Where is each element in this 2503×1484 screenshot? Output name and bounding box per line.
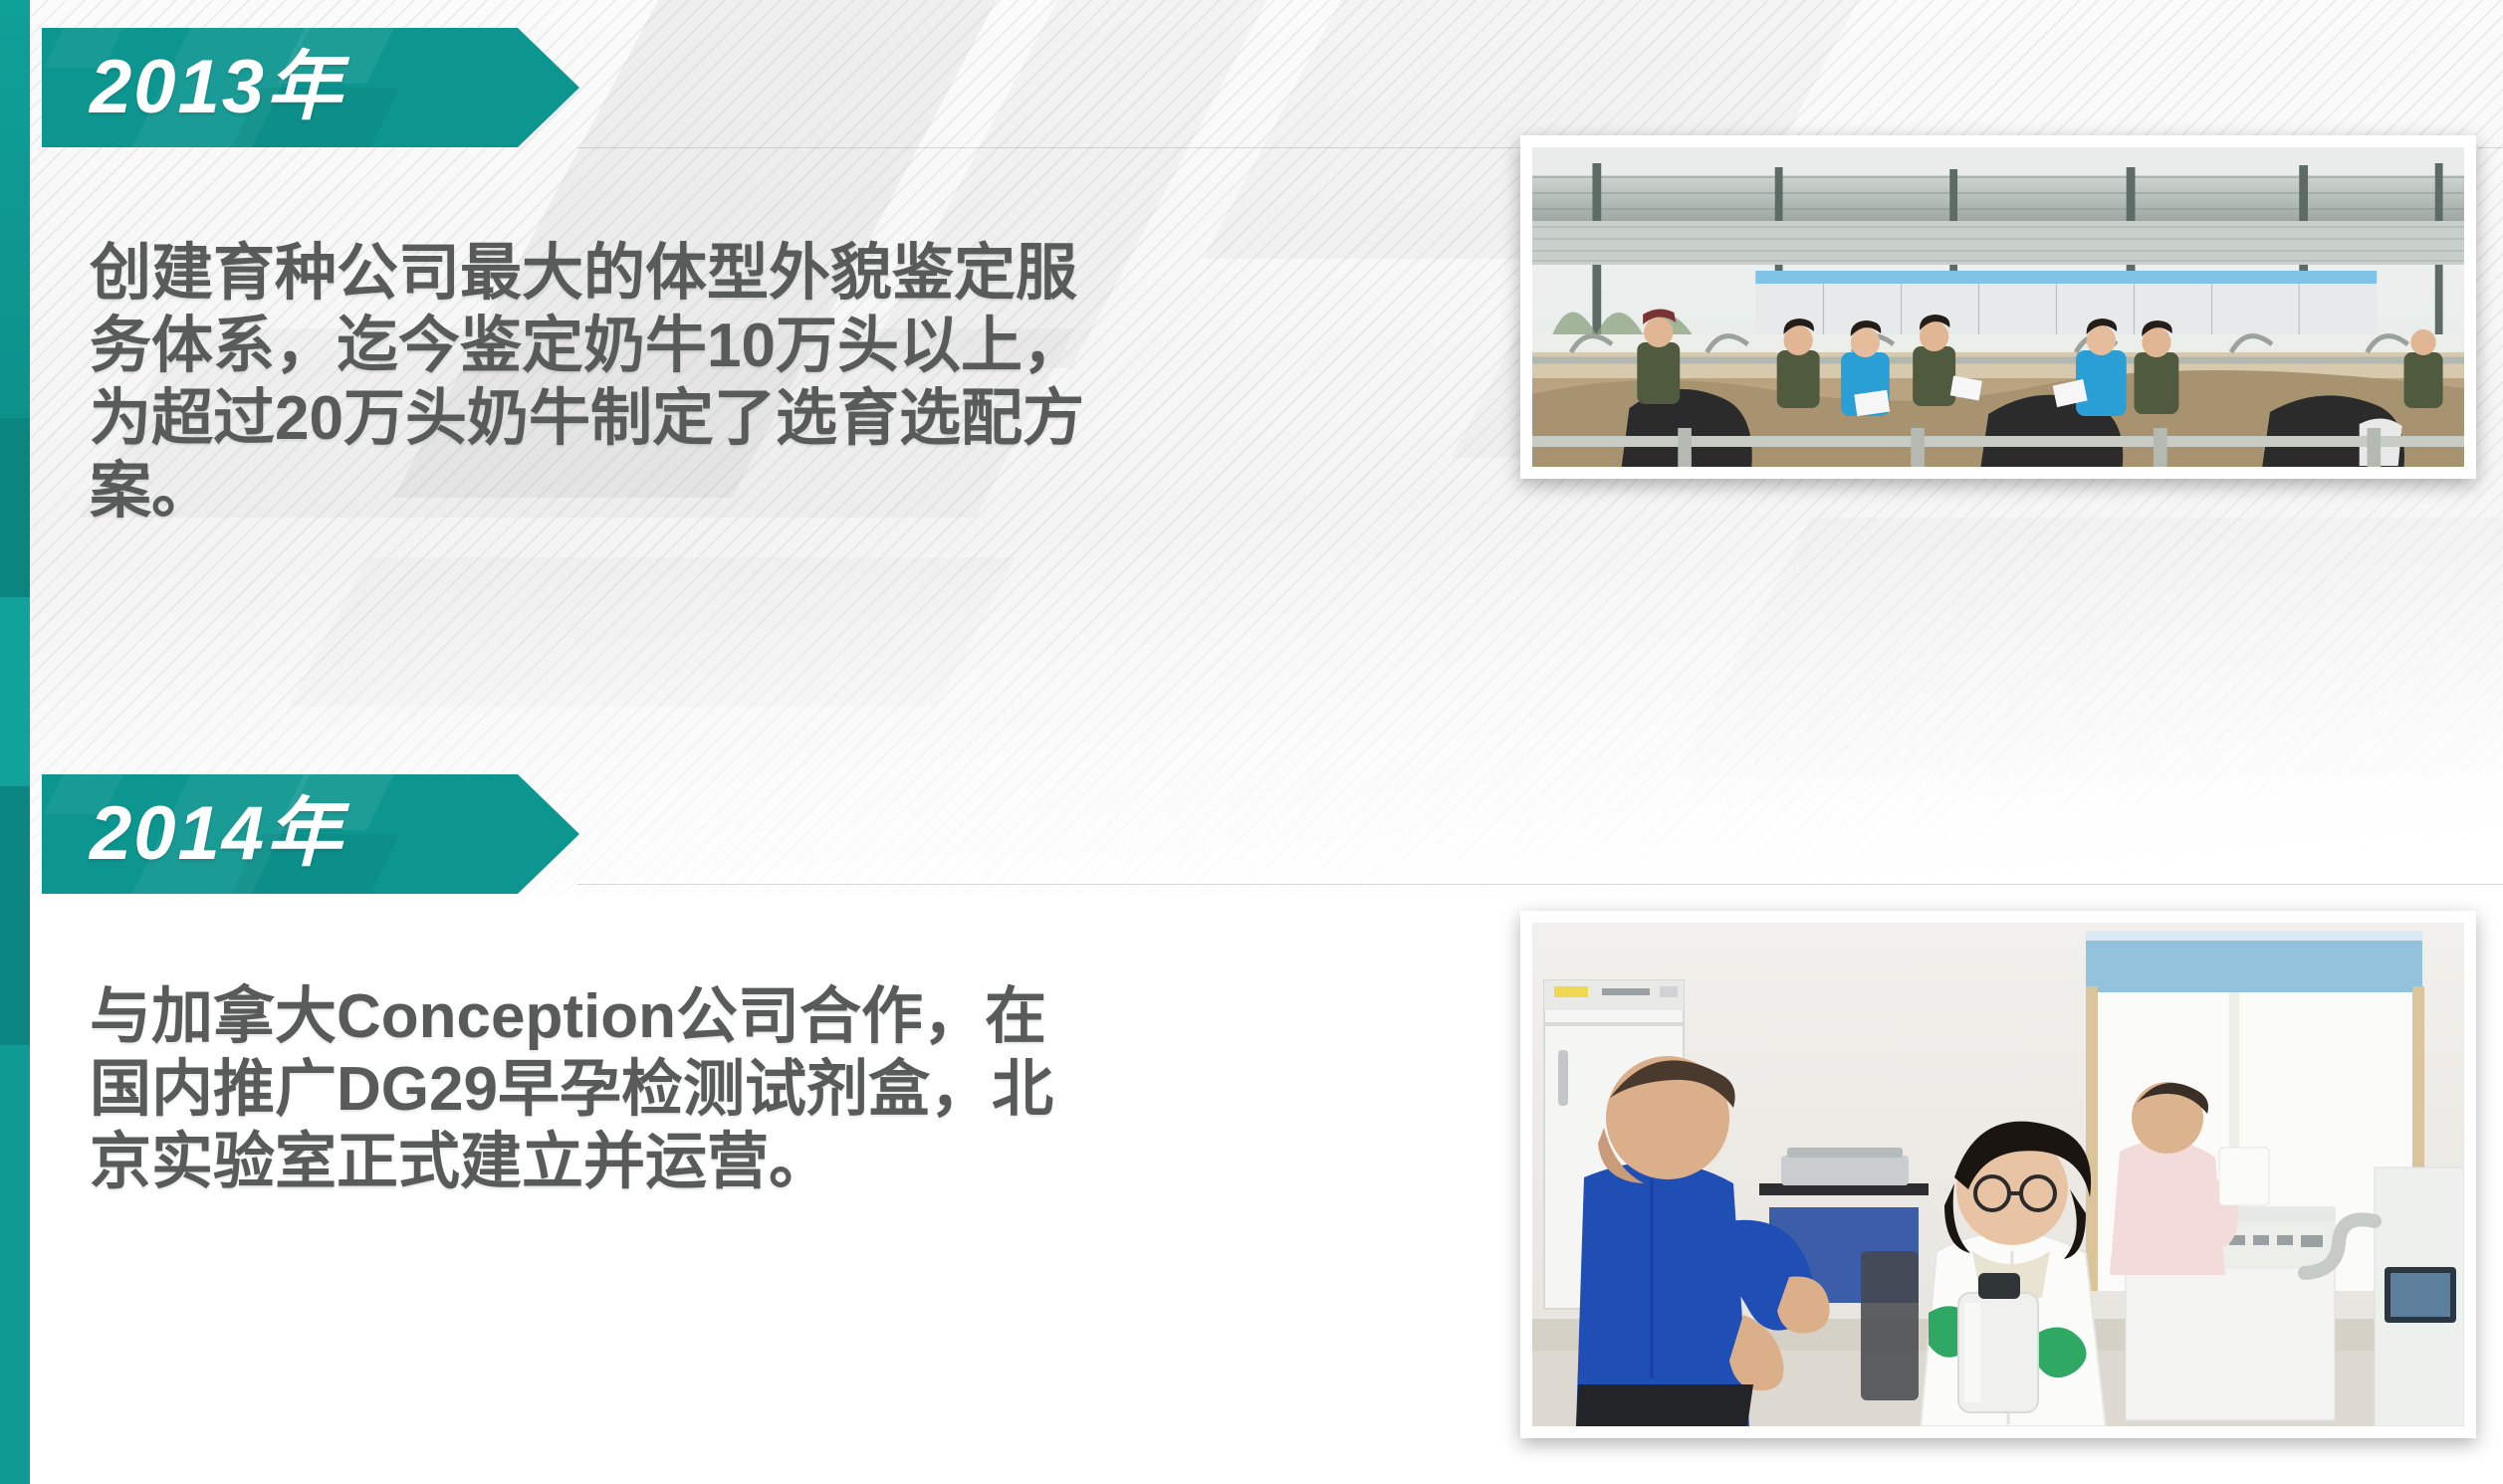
rail-segment bbox=[0, 418, 30, 597]
rail-segment bbox=[0, 1045, 30, 1484]
rail-segment bbox=[0, 0, 30, 418]
year-banner-2013: 2013年 bbox=[42, 28, 579, 147]
photo-illustration bbox=[1532, 923, 2464, 1426]
background-shard bbox=[289, 557, 1016, 707]
section-body-2014: 与加拿大Conception公司合作，在 国内推广DG29早孕检测试剂盒，北 京… bbox=[90, 980, 1474, 1198]
year-label-2014: 2014年 bbox=[42, 774, 343, 894]
rail-segment bbox=[0, 597, 30, 786]
rail-segment bbox=[0, 786, 30, 1045]
divider-line-2014 bbox=[577, 884, 2503, 885]
photo-dairy-barn-inspection bbox=[1532, 147, 2464, 467]
photo-frame-2013 bbox=[1520, 135, 2476, 479]
slide-root: 2013年 创建育种公司最大的体型外貌鉴定服 务体系，迄今鉴定奶牛10万头以上，… bbox=[0, 0, 2503, 1484]
photo-laboratory-collaboration bbox=[1532, 923, 2464, 1426]
section-body-2013: 创建育种公司最大的体型外貌鉴定服 务体系，迄今鉴定奶牛10万头以上， 为超过20… bbox=[90, 237, 1474, 529]
photo-frame-2014 bbox=[1520, 911, 2476, 1438]
photo-illustration bbox=[1532, 147, 2464, 467]
background-shard bbox=[1674, 518, 2503, 776]
year-label-2013: 2013年 bbox=[42, 28, 343, 147]
year-banner-2014: 2014年 bbox=[42, 774, 579, 894]
left-accent-rail bbox=[0, 0, 30, 1484]
